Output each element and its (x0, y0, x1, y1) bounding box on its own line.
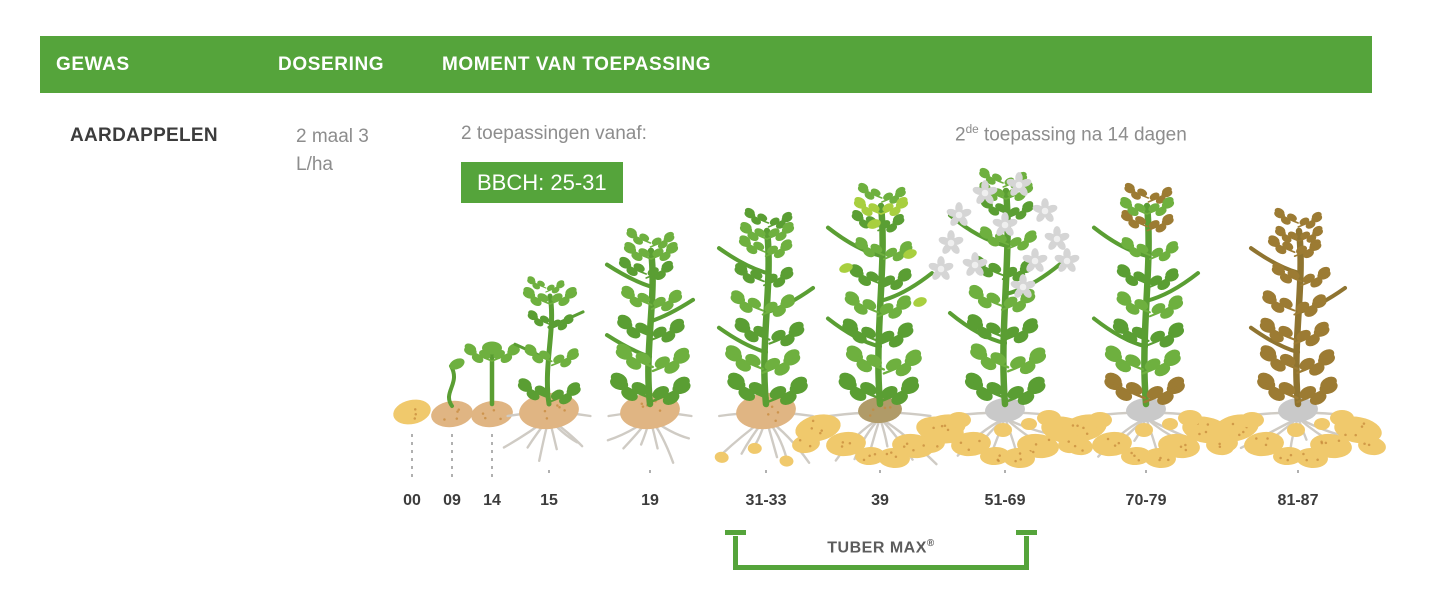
stage-label-19: 19 (641, 492, 659, 510)
product-name: TUBER MAX® (733, 538, 1029, 557)
second-application-prefix: 2 (955, 124, 966, 145)
stage-label-31-33: 31-33 (746, 492, 787, 510)
bracket-base (733, 565, 1029, 570)
second-application-note: 2de toepassing na 14 dagen (955, 123, 1187, 146)
dose-value: 2 maal 3 L/ha (296, 123, 406, 179)
stage-label-81-87: 81-87 (1278, 492, 1319, 510)
plant-stage-14 (463, 342, 521, 430)
column-header-dosering: DOSERING (278, 54, 384, 76)
crop-name: AARDAPPELEN (70, 125, 218, 147)
bracket-cap-left (725, 530, 746, 535)
plants-layer (391, 166, 1387, 469)
product-name-text: TUBER MAX (827, 539, 927, 556)
trademark-icon: ® (927, 538, 935, 549)
plant-stage-70-79 (1057, 181, 1235, 469)
second-application-text: toepassing na 14 dagen (979, 124, 1187, 145)
plant-stage-19 (607, 226, 693, 462)
stage-label-39: 39 (871, 492, 889, 510)
column-header-gewas: GEWAS (56, 54, 130, 76)
leader-lines-layer (412, 434, 1298, 478)
bracket-cap-right (1016, 530, 1037, 535)
plant-stage-31-33 (714, 206, 813, 467)
stage-label-14: 14 (483, 492, 501, 510)
plant-stage-00 (391, 396, 433, 427)
table-header-bar: GEWAS DOSERING MOMENT VAN TOEPASSING (40, 36, 1372, 93)
plant-stage-15 (504, 275, 590, 461)
plant-stage-09 (429, 356, 474, 430)
second-application-ordinal: de (966, 123, 979, 136)
plant-stage-81-87 (1209, 206, 1387, 469)
stage-label-15: 15 (540, 492, 558, 510)
stage-label-51-69: 51-69 (985, 492, 1026, 510)
stage-label-09: 09 (443, 492, 461, 510)
plant-stage-39 (791, 181, 966, 469)
stage-label-00: 00 (403, 492, 421, 510)
plant-stage-51-69 (916, 166, 1094, 469)
stage-label-70-79: 70-79 (1126, 492, 1167, 510)
bbch-badge: BBCH: 25-31 (461, 162, 623, 203)
column-header-moment-van-toepassing: MOMENT VAN TOEPASSING (442, 54, 711, 76)
applications-label: 2 toepassingen vanaf: (461, 123, 647, 145)
